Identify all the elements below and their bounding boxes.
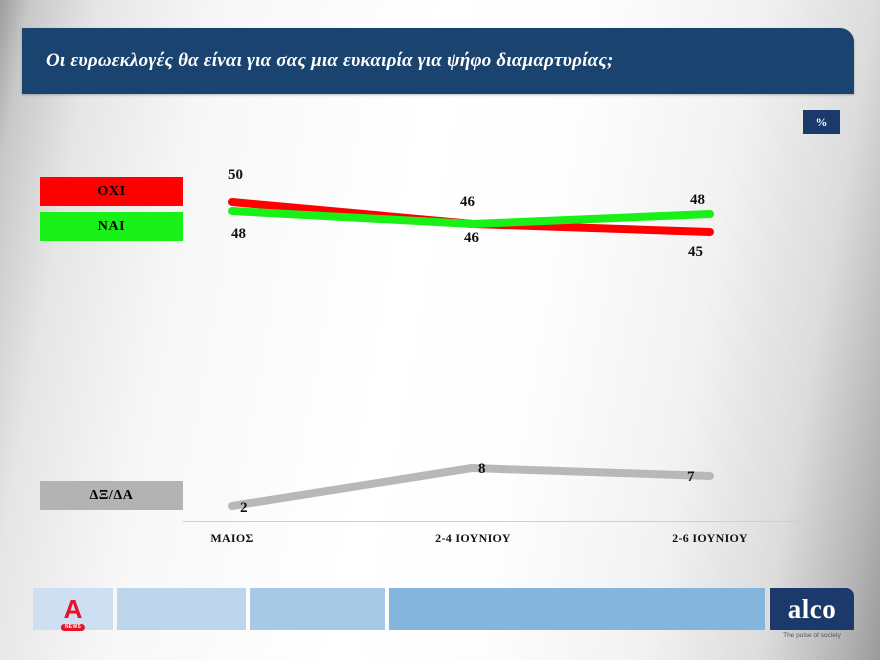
title-bar: Οι ευρωεκλογές θα είναι για σας μια ευκα… bbox=[22, 28, 854, 94]
x-axis-label-0: ΜΑΙΟΣ bbox=[172, 531, 292, 546]
legend-label-dk-da: ΔΞ/ΔΑ bbox=[89, 488, 133, 504]
alpha-news-letter: ANEWS bbox=[64, 596, 83, 622]
alpha-news-logo: ANEWS bbox=[33, 588, 113, 630]
x-axis-label-1: 2-4 ΙΟΥΝΙΟΥ bbox=[413, 531, 533, 546]
x-axis-line bbox=[183, 521, 805, 522]
footer-bar: ANEWS alco The pulse of society bbox=[0, 588, 880, 638]
legend-label-oxi: ΟΧΙ bbox=[97, 184, 125, 200]
slide-canvas: Οι ευρωεκλογές θα είναι για σας μια ευκα… bbox=[0, 0, 880, 660]
data-label-oxi-2: 45 bbox=[688, 244, 703, 261]
data-label-nai-0: 48 bbox=[231, 226, 246, 243]
legend-label-nai: ΝΑΙ bbox=[98, 219, 125, 235]
line-chart-plot bbox=[0, 0, 880, 660]
series-line-nai bbox=[232, 211, 710, 224]
alco-wordmark: alco bbox=[788, 596, 837, 623]
data-label-dk-da-0: 2 bbox=[240, 500, 248, 517]
legend-item-oxi[interactable]: ΟΧΙ bbox=[40, 177, 183, 206]
page-title: Οι ευρωεκλογές θα είναι για σας μια ευκα… bbox=[46, 50, 614, 72]
alpha-news-badge: NEWS bbox=[61, 624, 85, 631]
data-label-nai-2: 48 bbox=[690, 192, 705, 209]
data-label-nai-1: 46 bbox=[464, 230, 479, 247]
footer-block-3 bbox=[250, 588, 385, 630]
alco-logo: alco bbox=[770, 588, 854, 630]
footer-block-2 bbox=[117, 588, 246, 630]
alco-tagline: The pulse of society bbox=[770, 632, 854, 639]
percent-unit-badge: % bbox=[803, 110, 840, 134]
x-axis-label-2: 2-6 ΙΟΥΝΙΟΥ bbox=[650, 531, 770, 546]
series-line-dk-da bbox=[232, 468, 710, 506]
data-label-oxi-0: 50 bbox=[228, 167, 243, 184]
legend-item-nai[interactable]: ΝΑΙ bbox=[40, 212, 183, 241]
data-label-dk-da-2: 7 bbox=[687, 469, 695, 486]
data-label-oxi-1: 46 bbox=[460, 194, 475, 211]
footer-block-4 bbox=[389, 588, 765, 630]
data-label-dk-da-1: 8 bbox=[478, 461, 486, 478]
legend-item-dk-da[interactable]: ΔΞ/ΔΑ bbox=[40, 481, 183, 510]
